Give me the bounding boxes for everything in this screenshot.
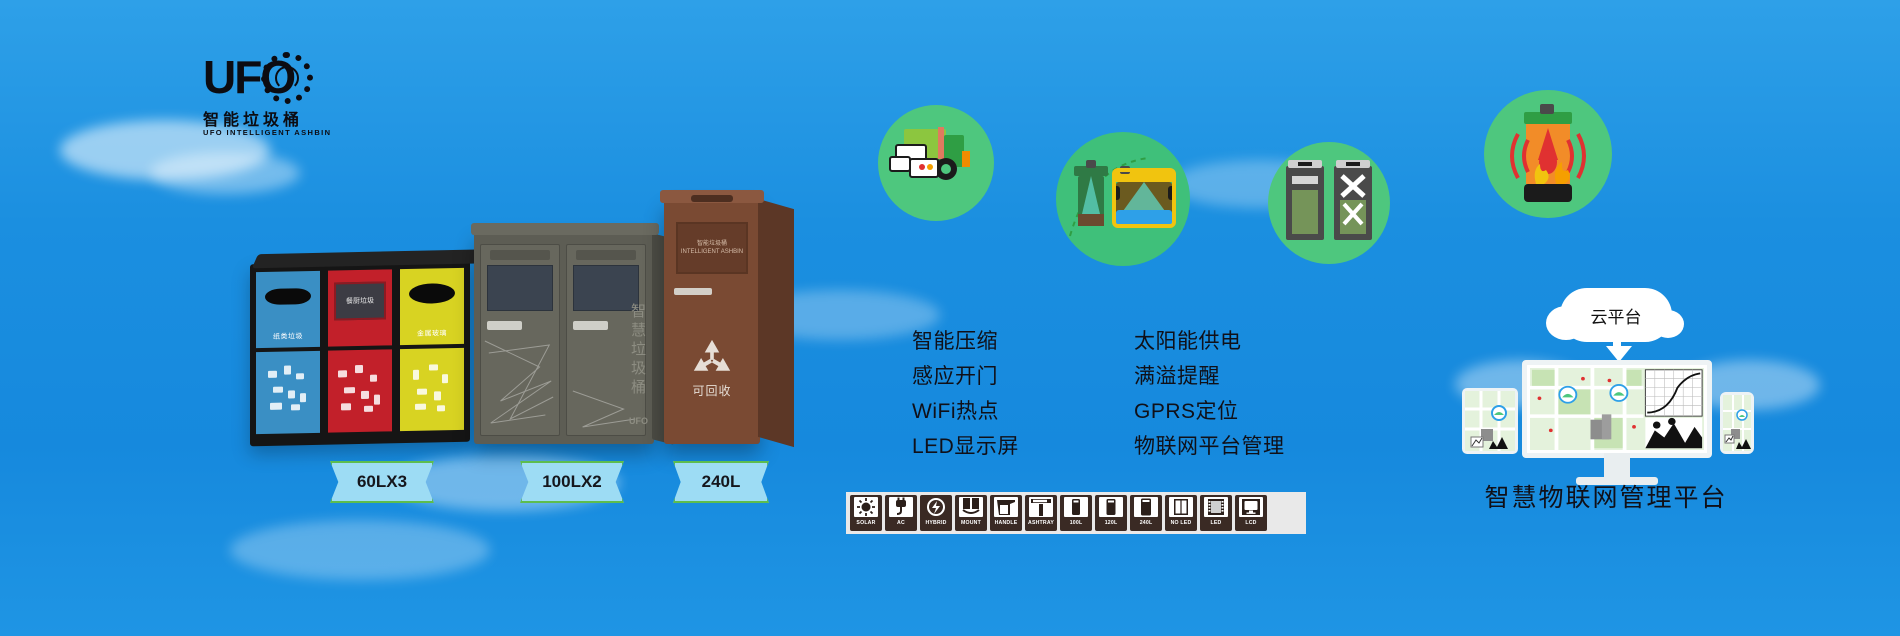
monitor-bullet-icon — [1100, 436, 1122, 453]
bin-compartment-paper: 纸类垃圾 — [256, 271, 320, 438]
capacity-text: 240L — [702, 472, 741, 492]
bin-display-panel — [487, 265, 553, 311]
feature-column-left: 智能压缩 感应开门 WiFi热点 LED显示屏 — [878, 322, 1019, 462]
feature-label: 太阳能供电 — [1134, 325, 1242, 355]
compartment-label: 金属玻璃 — [400, 328, 464, 339]
feature-item: 物联网平台管理 — [1100, 427, 1285, 462]
option-label: NO LED — [1171, 520, 1192, 526]
compartment-label: 餐厨垃圾 — [336, 284, 383, 319]
feature-label: 感应开门 — [912, 360, 998, 390]
bin-compartment-glass-metal: 金属玻璃 — [400, 268, 464, 435]
feature-item: WiFi热点 — [878, 392, 1019, 427]
monitor-stand — [1604, 453, 1630, 479]
compartment-upper: 餐厨垃圾 — [328, 269, 392, 346]
feature-item: 太阳能供电 — [1100, 322, 1285, 357]
option-icon-strip: SOLAR AC HYBRID MOUNT — [846, 492, 1306, 534]
option-led: LED — [1200, 495, 1232, 531]
wall-mount-icon — [959, 497, 983, 517]
feature-label: GPRS定位 — [1134, 395, 1239, 425]
bin-compartment-kitchen: 餐厨垃圾 — [328, 269, 392, 436]
compartment-lower — [400, 348, 464, 431]
feature-circle-compaction — [1268, 142, 1390, 264]
compartment-lower — [328, 349, 392, 432]
bin-sensor-bar — [691, 195, 733, 202]
feature-label: WiFi热点 — [912, 395, 999, 425]
option-label: SOLAR — [856, 520, 875, 526]
fill-level-sensor-icon — [1056, 132, 1190, 266]
monitor-bullet-icon — [1100, 401, 1122, 418]
option-ashtray: ASHTRAY — [1025, 495, 1057, 531]
option-label: HANDLE — [995, 520, 1018, 526]
monitor-bullet-icon — [878, 331, 900, 348]
bin-display-text: 智能垃圾桶 INTELLIGENT ASHBIN — [678, 240, 747, 256]
option-label: 240L — [1140, 520, 1153, 526]
ashtray-icon — [1029, 497, 1053, 517]
feature-item: GPRS定位 — [1100, 392, 1285, 427]
compaction-bins-icon — [1268, 142, 1390, 264]
option-no-led: NO LED — [1165, 495, 1197, 531]
feature-item: 满溢提醒 — [1100, 357, 1285, 392]
desktop-monitor — [1522, 360, 1712, 458]
bin-lid — [252, 249, 486, 268]
waste-slot-icon — [265, 288, 311, 305]
compartment-upper: 纸类垃圾 — [256, 271, 320, 348]
monitor-bullet-icon — [878, 366, 900, 383]
hybrid-power-icon — [924, 497, 948, 517]
compartment-label: 纸类垃圾 — [256, 331, 320, 342]
phone-device — [1720, 392, 1754, 454]
bin-100l-icon — [1064, 497, 1088, 517]
feature-column-right: 太阳能供电 满溢提醒 GPRS定位 物联网平台管理 — [1100, 322, 1285, 462]
option-120l: 120L — [1095, 495, 1127, 531]
waste-slot-icon — [409, 283, 455, 304]
compartment-display: 餐厨垃圾 — [334, 282, 385, 321]
platform-title: 智慧物联网管理平台 — [1430, 478, 1782, 514]
waste-illustration — [262, 361, 313, 424]
cloud-platform-label: 云平台 — [1591, 303, 1642, 328]
bin-handle — [674, 288, 712, 295]
option-label: 120L — [1105, 520, 1118, 526]
bin-sensor-bar — [576, 250, 635, 260]
option-240l: 240L — [1130, 495, 1162, 531]
option-solar: SOLAR — [850, 495, 882, 531]
feature-circle-fire-alarm — [1484, 90, 1612, 218]
bin-240l-icon — [1134, 497, 1158, 517]
product-smart-double-bin: 智慧垃圾桶 UFO — [474, 232, 654, 444]
feature-item: 智能压缩 — [878, 322, 1019, 357]
monitor-bullet-icon — [878, 401, 900, 418]
feature-item: LED显示屏 — [878, 427, 1019, 462]
option-100l: 100L — [1060, 495, 1092, 531]
monitor-bullet-icon — [1100, 331, 1122, 348]
option-label: LED — [1211, 520, 1222, 526]
capacity-label-240l: 240L — [673, 461, 769, 503]
bin-sensor-bar — [490, 250, 549, 260]
feature-circle-collection-vehicle — [878, 105, 994, 221]
garbage-truck-icon — [878, 105, 994, 221]
ufo-logo: UFO 智能垃圾桶 UFO INTELLIGENT ASHBIN — [203, 52, 333, 152]
bin-body-text: 智慧垃圾桶 — [628, 302, 650, 397]
bin-door-left — [480, 244, 560, 436]
polygon-graphic — [481, 331, 559, 431]
bin-120l-icon — [1099, 497, 1123, 517]
bin-body-text: 可回收 — [664, 382, 760, 399]
iot-platform-illustration: 云平台 — [1456, 300, 1756, 500]
option-label: MOUNT — [961, 520, 981, 526]
option-lcd: LCD — [1235, 495, 1267, 531]
recycle-icon — [690, 338, 734, 378]
bin-brand-mark: UFO — [629, 416, 648, 426]
product-brown-bin: 智能垃圾桶 INTELLIGENT ASHBIN 可回收 — [664, 200, 760, 444]
compartment-upper: 金属玻璃 — [400, 268, 464, 345]
dashboard-screen — [1530, 368, 1704, 450]
capacity-label-60lx3: 60LX3 — [330, 461, 434, 503]
bin-side-panel — [758, 199, 794, 447]
capacity-text: 100LX2 — [542, 472, 602, 492]
tablet-device — [1462, 388, 1518, 454]
led-icon — [1204, 497, 1228, 517]
waste-illustration — [334, 359, 385, 422]
monitor-bullet-icon — [1100, 366, 1122, 383]
option-label: AC — [897, 520, 905, 526]
bin-lid — [471, 223, 659, 235]
option-ac: AC — [885, 495, 917, 531]
option-label: LCD — [1245, 520, 1256, 526]
cloud-platform-bubble: 云平台 — [1560, 288, 1672, 342]
option-hybrid: HYBRID — [920, 495, 952, 531]
option-mount: MOUNT — [955, 495, 987, 531]
monitor-bullet-icon — [878, 436, 900, 453]
cloud-decoration — [230, 520, 490, 580]
feature-circle-fill-level-sensor — [1056, 132, 1190, 266]
option-label: ASHTRAY — [1028, 520, 1054, 526]
cloud-decoration — [150, 152, 300, 194]
bin-handle — [487, 321, 521, 330]
option-label: HYBRID — [925, 520, 946, 526]
lcd-icon — [1239, 497, 1263, 517]
compartment-lower — [256, 351, 320, 434]
bin-handle — [573, 321, 607, 330]
waste-illustration — [406, 358, 457, 421]
handle-icon — [994, 497, 1018, 517]
capacity-label-100lx2: 100LX2 — [520, 461, 624, 503]
bin-display-panel: 智能垃圾桶 INTELLIGENT ASHBIN — [676, 222, 749, 274]
feature-label: 智能压缩 — [912, 325, 998, 355]
fire-alarm-icon — [1484, 90, 1612, 218]
option-label: 100L — [1070, 520, 1083, 526]
feature-label: 物联网平台管理 — [1134, 430, 1285, 460]
logo-english-name: UFO INTELLIGENT ASHBIN — [203, 128, 331, 137]
plug-icon — [889, 497, 913, 517]
banner-stage: UFO 智能垃圾桶 UFO INTELLIGENT ASHBIN 纸类垃圾 — [0, 0, 1900, 636]
sun-icon — [854, 497, 878, 517]
logo-ring-icon — [261, 52, 313, 104]
logo-chinese-name: 智能垃圾桶 — [203, 106, 303, 130]
feature-label: LED显示屏 — [912, 430, 1019, 460]
no-led-icon — [1169, 497, 1193, 517]
product-triple-bin: 纸类垃圾 餐厨垃圾 — [250, 260, 470, 447]
option-handle: HANDLE — [990, 495, 1022, 531]
capacity-text: 60LX3 — [357, 472, 407, 492]
feature-label: 满溢提醒 — [1134, 360, 1220, 390]
feature-item: 感应开门 — [878, 357, 1019, 392]
tablet-screen-map — [1465, 391, 1515, 451]
phone-screen-map — [1723, 395, 1751, 451]
